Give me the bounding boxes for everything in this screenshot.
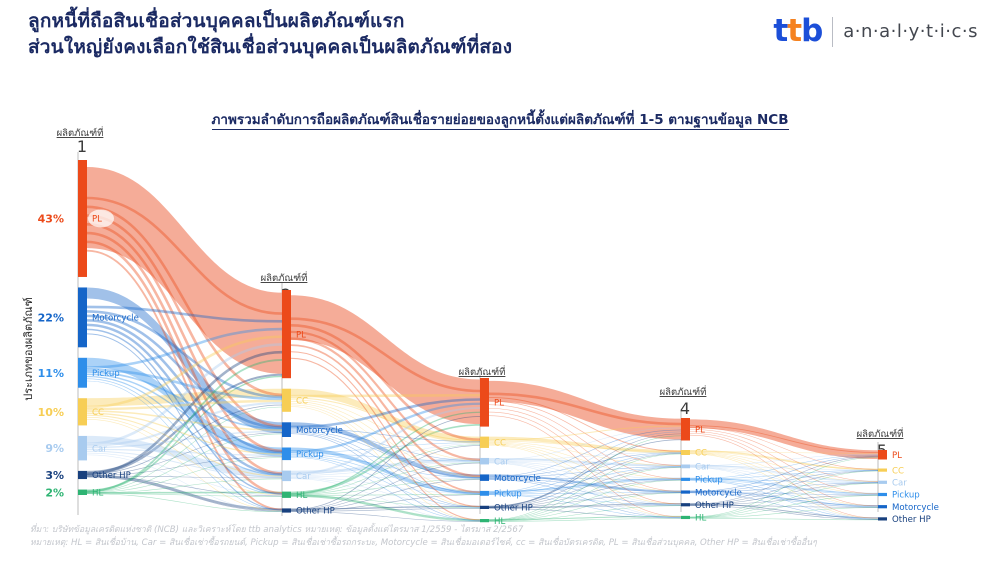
node-label-hl-stage1: HL	[92, 488, 103, 498]
node-label-otherhp-stage1: Other HP	[92, 471, 131, 481]
footnote-source: ที่มา: บริษัทข้อมูลเครดิตแห่งชาติ (NCB) …	[30, 524, 980, 537]
stage-number-4: 4	[680, 399, 690, 418]
node-label-pl-stage4: PL	[695, 425, 705, 435]
sankey-infographic: ลูกหนี้ที่ถือสินเชื่อส่วนบุคคลเป็นผลิตภั…	[0, 0, 1000, 562]
node-otherhp-stage5[interactable]	[878, 517, 887, 520]
node-label-otherhp-stage4: Other HP	[695, 501, 734, 511]
stage-header-4: ผลิตภัณฑ์ที่	[660, 385, 707, 398]
node-motorcycle-stage4[interactable]	[681, 490, 690, 493]
node-otherhp-stage1[interactable]	[78, 471, 87, 479]
node-label-pickup-stage4: Pickup	[695, 476, 723, 486]
node-label-cc-stage4: CC	[695, 449, 707, 459]
node-label-cc-stage1: CC	[92, 408, 104, 418]
node-motorcycle-stage5[interactable]	[878, 505, 887, 508]
node-car-stage5[interactable]	[878, 481, 887, 484]
link-thin-cc-to-pl	[291, 395, 480, 396]
node-cc-stage1[interactable]	[78, 398, 87, 425]
node-hl-stage4[interactable]	[681, 516, 690, 519]
node-label-cc-stage5: CC	[892, 466, 904, 476]
stage1-percent-otherhp: 3%	[45, 469, 64, 482]
node-label-car-stage4: Car	[695, 463, 710, 473]
link-thin-hl-to-pickup	[489, 480, 681, 520]
node-cc-stage5[interactable]	[878, 469, 887, 472]
node-label-pl-stage3: PL	[494, 399, 504, 409]
node-car-stage4[interactable]	[681, 465, 690, 469]
node-pl-stage5[interactable]	[878, 450, 887, 460]
node-label-hl-stage4: HL	[695, 514, 706, 524]
node-car-stage3[interactable]	[480, 458, 489, 464]
node-label-car-stage5: Car	[892, 479, 907, 489]
node-pl-stage1[interactable]	[78, 160, 87, 277]
node-label-pl-stage1: PL	[92, 215, 102, 225]
stage1-percent-pl: 43%	[38, 212, 64, 225]
link-pl-to-pl	[87, 167, 282, 374]
node-car-stage1[interactable]	[78, 436, 87, 460]
node-hl-stage2[interactable]	[282, 492, 291, 498]
sankey-links	[87, 167, 878, 522]
node-hl-stage3[interactable]	[480, 519, 489, 522]
stage-header-2: ผลิตภัณฑ์ที่	[261, 271, 308, 284]
node-motorcycle-stage2[interactable]	[282, 422, 291, 437]
node-label-cc-stage2: CC	[296, 396, 308, 406]
stage-number-1: 1	[77, 137, 87, 156]
node-cc-stage4[interactable]	[681, 450, 690, 455]
stage1-percent-pickup: 11%	[38, 367, 64, 380]
stage1-percent-car: 9%	[45, 442, 64, 455]
node-car-stage2[interactable]	[282, 471, 291, 482]
node-label-cc-stage3: CC	[494, 438, 506, 448]
node-cc-stage3[interactable]	[480, 437, 489, 448]
stage-header-5: ผลิตภัณฑ์ที่	[857, 427, 904, 440]
node-label-motorcycle-stage3: Motorcycle	[494, 474, 541, 484]
node-pl-stage4[interactable]	[681, 418, 690, 441]
stage1-percent-cc: 10%	[38, 406, 64, 419]
node-label-pickup-stage3: Pickup	[494, 490, 522, 500]
node-pickup-stage3[interactable]	[480, 491, 489, 496]
node-pickup-stage2[interactable]	[282, 448, 291, 461]
link-thin-car-to-otherhp	[291, 478, 480, 508]
node-label-pickup-stage2: Pickup	[296, 450, 324, 460]
node-label-car-stage2: Car	[296, 472, 311, 482]
stage1-percent-motorcycle: 22%	[38, 311, 64, 324]
node-pl-stage2[interactable]	[282, 290, 291, 378]
node-pl-stage3[interactable]	[480, 378, 489, 427]
node-label-motorcycle-stage5: Motorcycle	[892, 503, 939, 513]
node-label-motorcycle-stage2: Motorcycle	[296, 426, 343, 436]
node-pickup-stage5[interactable]	[878, 493, 887, 496]
node-label-car-stage3: Car	[494, 457, 509, 467]
node-label-otherhp-stage2: Other HP	[296, 507, 335, 517]
node-motorcycle-stage3[interactable]	[480, 474, 489, 480]
node-cc-stage2[interactable]	[282, 389, 291, 412]
node-label-motorcycle-stage4: Motorcycle	[695, 488, 742, 498]
node-label-otherhp-stage3: Other HP	[494, 504, 533, 514]
node-otherhp-stage3[interactable]	[480, 506, 489, 509]
node-label-pickup-stage1: Pickup	[92, 369, 120, 379]
node-pickup-stage1[interactable]	[78, 358, 87, 388]
node-pickup-stage4[interactable]	[681, 478, 690, 481]
sankey-chart: ผลิตภัณฑ์ที่1ผลิตภัณฑ์ที่2ผลิตภัณฑ์ที่3ผ…	[0, 0, 1000, 562]
footnote-legend: หมายเหตุ: HL = สินเชื่อบ้าน, Car = สินเช…	[30, 537, 980, 550]
stage1-percent-hl: 2%	[45, 486, 64, 499]
node-motorcycle-stage1[interactable]	[78, 287, 87, 347]
node-otherhp-stage2[interactable]	[282, 508, 291, 512]
node-otherhp-stage4[interactable]	[681, 503, 690, 506]
stage-header-3: ผลิตภัณฑ์ที่	[459, 365, 506, 378]
node-label-motorcycle-stage1: Motorcycle	[92, 314, 139, 324]
footnotes: ที่มา: บริษัทข้อมูลเครดิตแห่งชาติ (NCB) …	[30, 524, 980, 550]
node-label-pickup-stage5: Pickup	[892, 491, 920, 501]
node-hl-stage1[interactable]	[78, 490, 87, 495]
node-label-car-stage1: Car	[92, 444, 107, 454]
node-label-pl-stage2: PL	[296, 330, 306, 340]
node-label-pl-stage5: PL	[892, 451, 902, 461]
node-label-hl-stage2: HL	[296, 491, 307, 501]
